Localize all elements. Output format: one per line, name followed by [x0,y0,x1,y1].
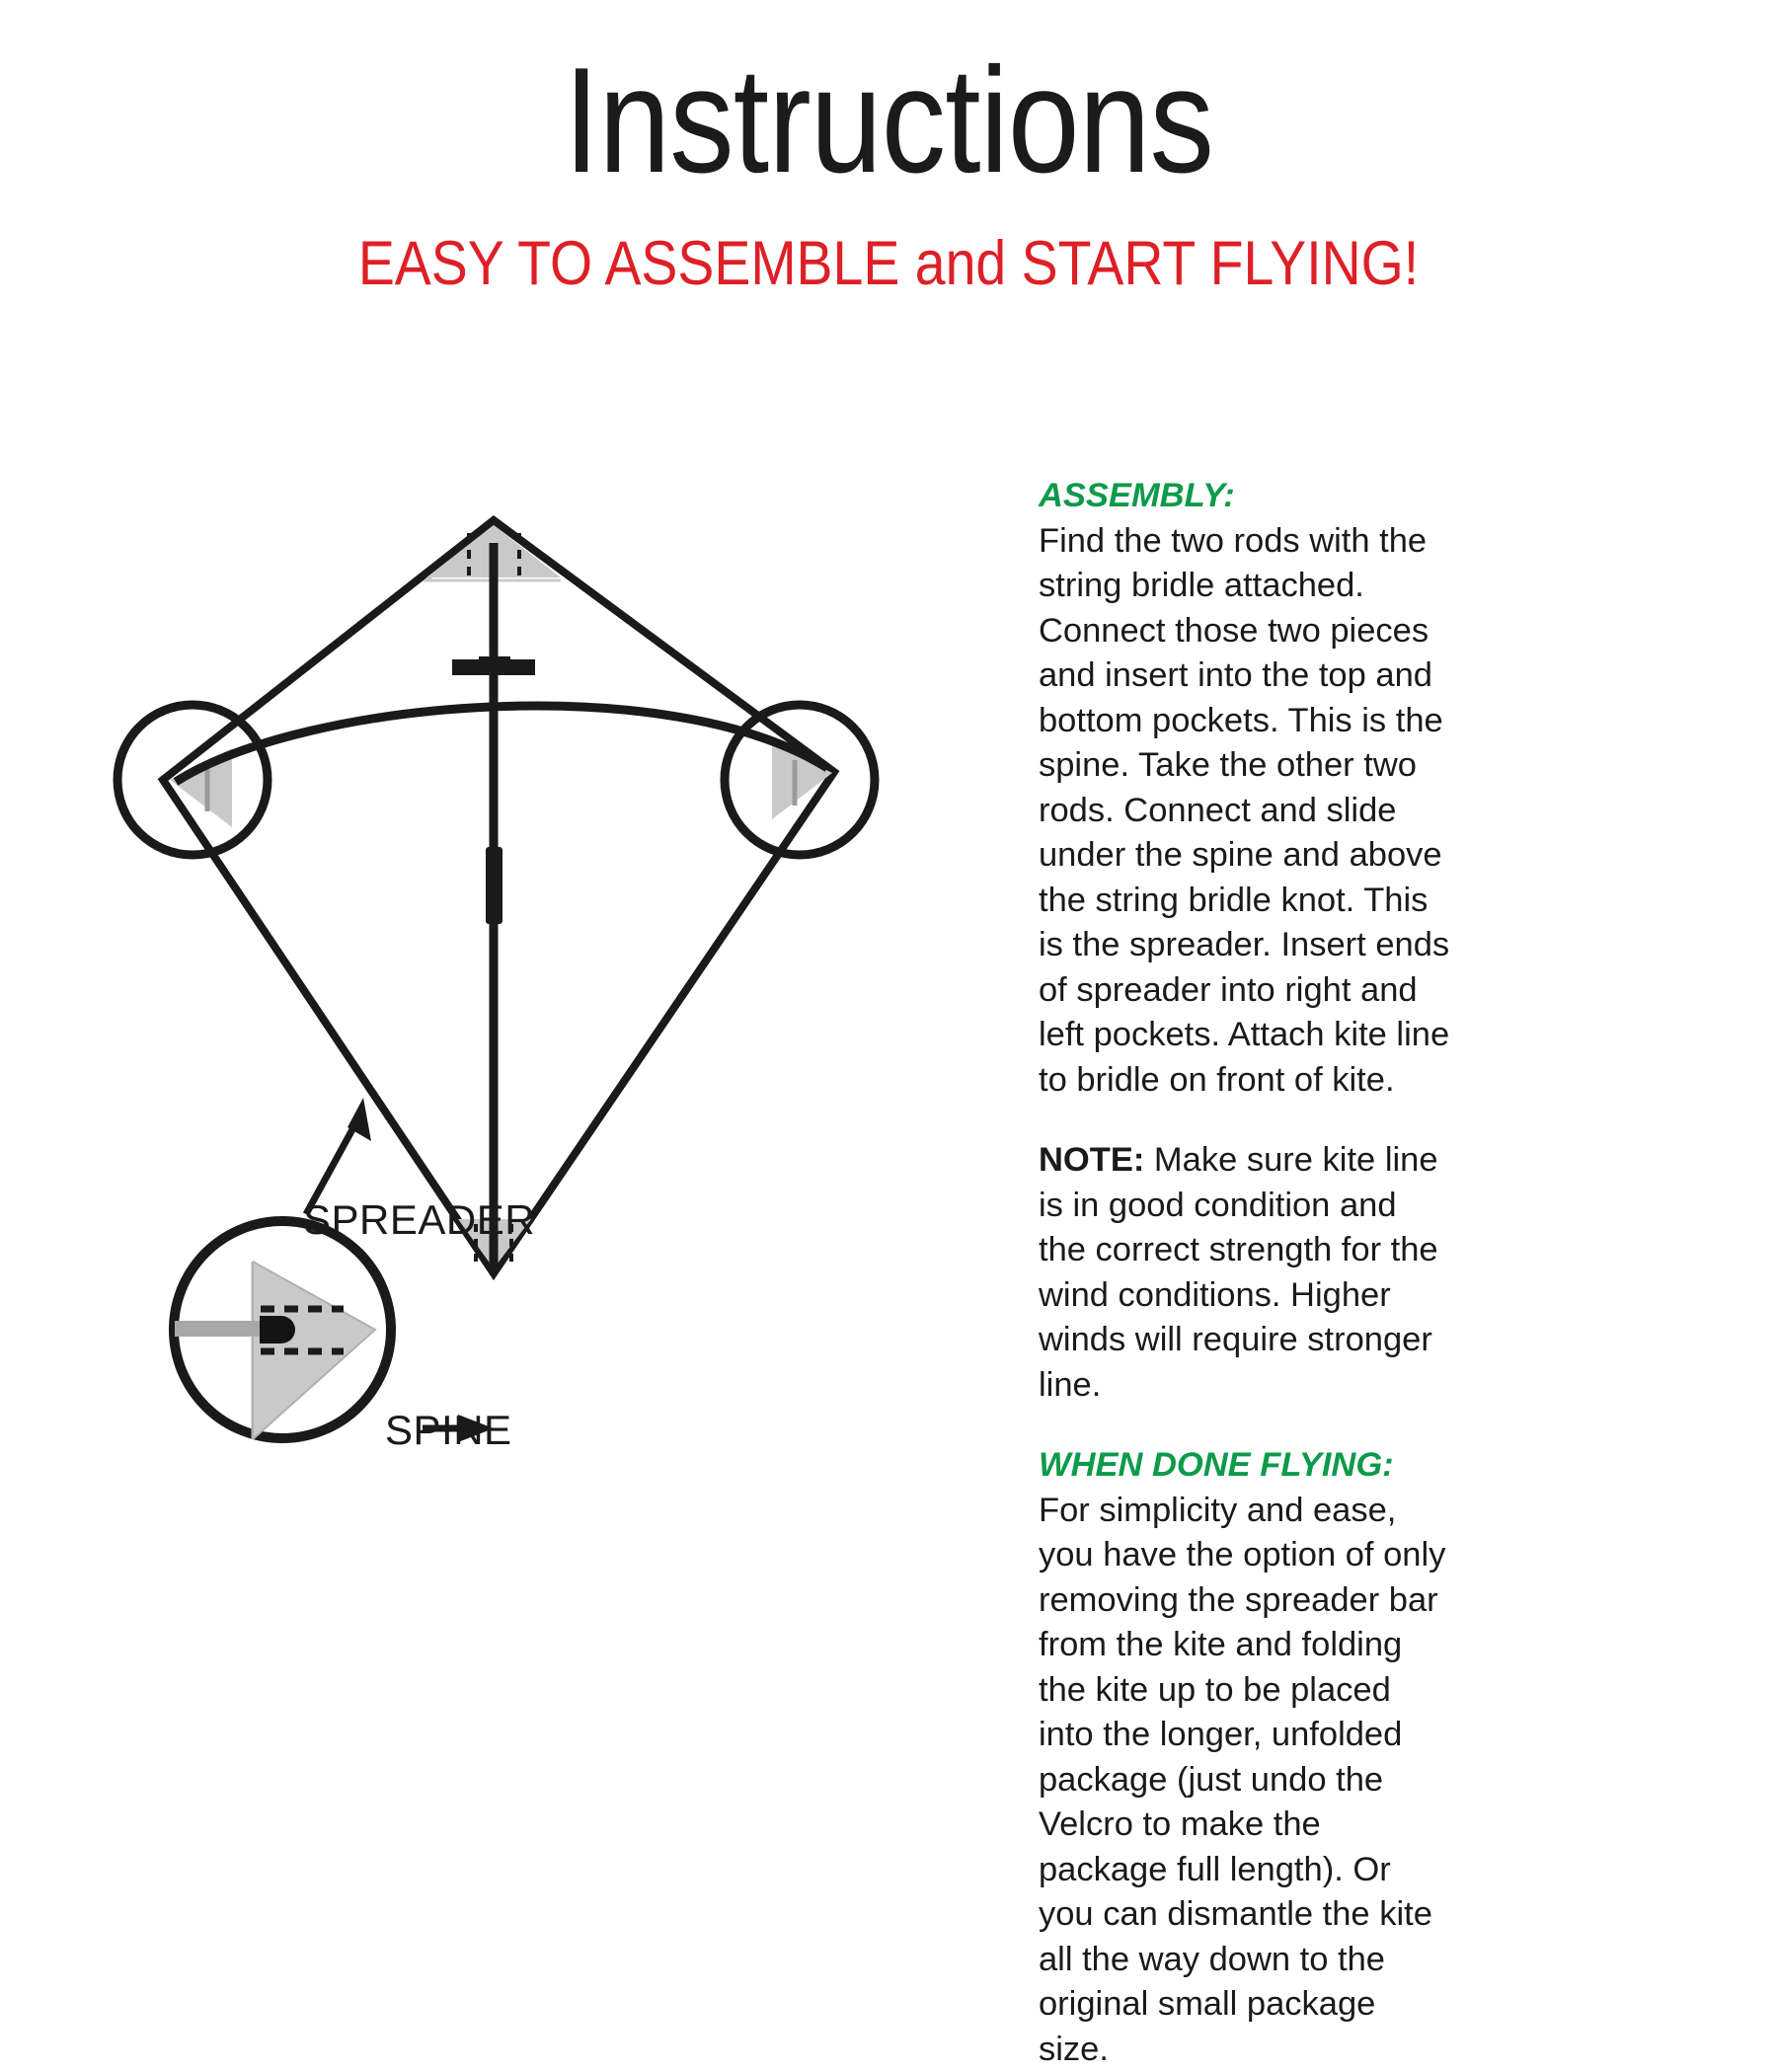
page-title: Instructions [124,45,1653,195]
assembly-heading: ASSEMBLY: [1039,477,1235,514]
kite-assembly-diagram: SPREADER SPINE [59,434,948,1500]
note-body: Make sure kite line is in good condition… [1039,1141,1438,1404]
assembly-body: Find the two rods with the string bridle… [1039,522,1449,1099]
note-heading: NOTE: [1039,1141,1144,1179]
instruction-sheet: Instructions EASY TO ASSEMBLE and START … [0,0,1777,1777]
when-done-flying-paragraph: WHEN DONE FLYING: For simplicity and eas… [1039,1443,1453,2072]
page-subtitle: EASY TO ASSEMBLE and START FLYING! [107,233,1670,295]
when-done-flying-heading: WHEN DONE FLYING: [1039,1446,1394,1484]
instructions-text-column: ASSEMBLY: Find the two rods with the str… [1039,474,1453,2072]
spine-label: SPINE [385,1407,512,1454]
note-paragraph: NOTE: Make sure kite line is in good con… [1039,1138,1453,1408]
assembly-paragraph: ASSEMBLY: Find the two rods with the str… [1039,474,1453,1103]
spreader-label: SPREADER [303,1196,535,1244]
when-done-flying-body: For simplicity and ease, you have the op… [1039,1492,1445,2068]
spine-rod [479,543,510,1268]
rod-into-pocket-detail-callout [174,1221,391,1439]
